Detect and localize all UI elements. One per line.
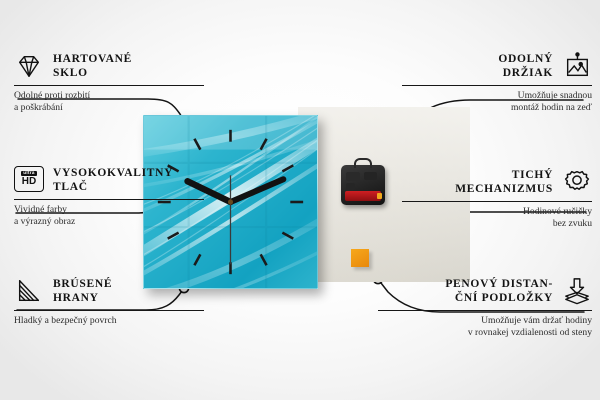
feature-silent-mechanism: TICHÝ MECHANIZMUS Hodinové ručičky bez z… xyxy=(402,168,592,231)
feature-ground-edges: BRÚSENÉ HRANY Hladký a bezpečný povrch xyxy=(14,277,204,327)
feature-title: BRÚSENÉ HRANY xyxy=(53,277,112,305)
feature-high-quality-print: ultra HD VYSOKOKVALITNÝ TLAČ Vividné far… xyxy=(14,166,204,229)
feature-subtitle: Odolné proti rozbití a poškrábání xyxy=(14,90,204,115)
divider xyxy=(14,310,204,311)
feature-foam-spacers: PENOVÝ DISTAN- ČNÍ PODLOŽKY Umožňuje vám… xyxy=(378,277,592,340)
product-infographic: HARTOVANÉ SKLO Odolné proti rozbití a po… xyxy=(0,0,600,400)
hour-marker xyxy=(194,139,200,150)
minute-hand xyxy=(230,179,283,202)
feature-subtitle: Umožňuje snadnou montáž hodin na zeď xyxy=(402,90,592,115)
hour-marker xyxy=(168,233,179,239)
mechanism-slot xyxy=(346,172,360,181)
clock-center-cap xyxy=(228,199,233,204)
feature-header: PENOVÝ DISTAN- ČNÍ PODLOŽKY xyxy=(378,277,592,305)
hour-marker xyxy=(261,139,267,150)
hour-marker xyxy=(261,254,267,265)
picture-frame-icon xyxy=(562,52,592,80)
divider xyxy=(378,310,592,311)
hour-marker xyxy=(194,254,200,265)
mechanism-slot xyxy=(346,183,355,190)
feature-subtitle: Hladký a bezpečný povrch xyxy=(14,315,204,327)
feature-header: ultra HD VYSOKOKVALITNÝ TLAČ xyxy=(14,166,204,194)
feature-title: TICHÝ MECHANIZMUS xyxy=(455,168,553,196)
divider xyxy=(14,85,204,86)
press-down-layers-icon xyxy=(562,277,592,305)
feature-subtitle: Umožňuje vám držať hodiny v rovnakej vzd… xyxy=(378,315,592,340)
feature-header: TICHÝ MECHANIZMUS xyxy=(402,168,592,196)
mechanism-hanger-hook xyxy=(354,158,372,168)
ultra-hd-icon: ultra HD xyxy=(14,166,44,194)
feature-subtitle: Hodinové ručičky bez zvuku xyxy=(402,206,592,231)
feature-header: BRÚSENÉ HRANY xyxy=(14,277,204,305)
divider xyxy=(14,199,204,200)
feature-tempered-glass: HARTOVANÉ SKLO Odolné proti rozbití a po… xyxy=(14,52,204,115)
mechanism-slot xyxy=(364,172,377,180)
foam-spacer-pad xyxy=(351,249,369,267)
feature-title: VYSOKOKVALITNÝ TLAČ xyxy=(53,166,173,194)
battery xyxy=(345,191,381,201)
diamond-icon xyxy=(14,52,44,80)
hour-marker xyxy=(282,165,293,171)
divider xyxy=(402,201,592,202)
divider xyxy=(402,85,592,86)
feature-subtitle: Vividné farby a výrazný obraz xyxy=(14,204,204,229)
feature-header: HARTOVANÉ SKLO xyxy=(14,52,204,80)
feature-title: PENOVÝ DISTAN- ČNÍ PODLOŽKY xyxy=(445,277,553,305)
gear-icon xyxy=(562,168,592,196)
feature-title: HARTOVANÉ SKLO xyxy=(53,52,132,80)
hd-label: HD xyxy=(22,177,36,187)
hour-marker xyxy=(282,233,293,239)
feature-header: ODOLNÝ DRŽIAK xyxy=(402,52,592,80)
feature-durable-hanger: ODOLNÝ DRŽIAK Umožňuje snadnou montáž ho… xyxy=(402,52,592,115)
feature-title: ODOLNÝ DRŽIAK xyxy=(498,52,553,80)
bevelled-edge-icon xyxy=(14,277,44,305)
clock-mechanism xyxy=(341,165,385,205)
